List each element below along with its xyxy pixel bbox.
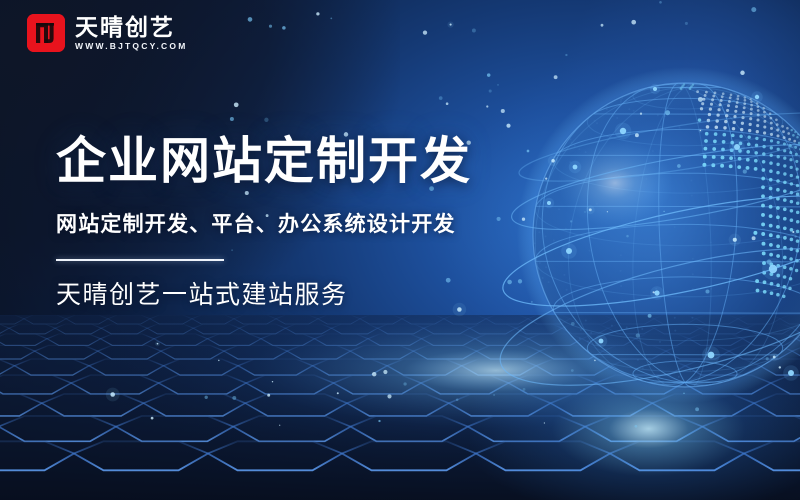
logo-company-name: 天晴创艺 (75, 16, 188, 39)
logo-website-url: WWW.BJTQCY.COM (75, 42, 188, 51)
headline-subtitle: 网站定制开发、平台、办公系统设计开发 (56, 212, 576, 237)
headline-block: 企业网站定制开发 网站定制开发、平台、办公系统设计开发 天晴创艺一站式建站服务 (56, 132, 576, 310)
promo-banner: 天晴创艺 WWW.BJTQCY.COM 企业网站定制开发 网站定制开发、平台、办… (0, 0, 800, 500)
logo-mark-icon (27, 14, 65, 52)
headline-divider (56, 259, 224, 261)
brand-logo[interactable]: 天晴创艺 WWW.BJTQCY.COM (27, 14, 188, 52)
headline-tagline: 天晴创艺一站式建站服务 (56, 280, 576, 310)
logo-text-block: 天晴创艺 WWW.BJTQCY.COM (75, 16, 188, 51)
headline-primary: 企业网站定制开发 (56, 132, 576, 190)
